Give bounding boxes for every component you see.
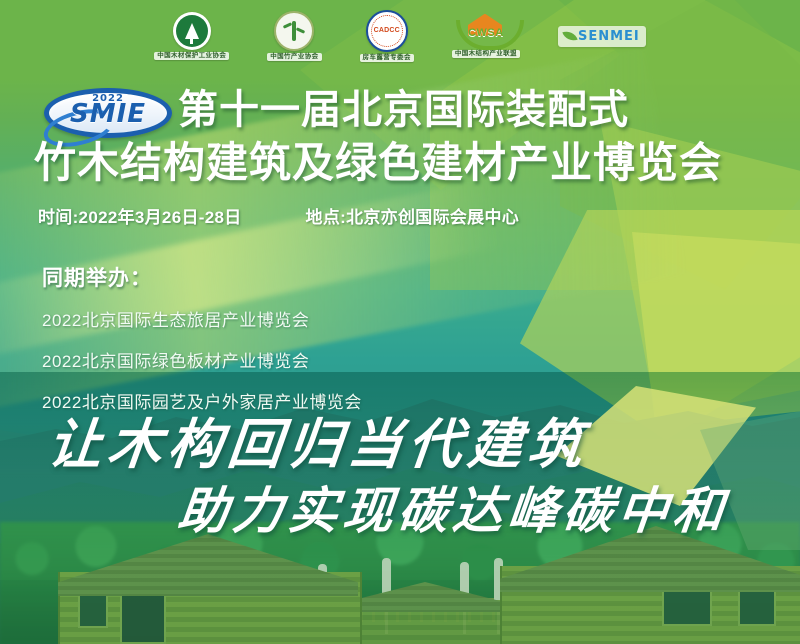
title-line-2: 竹木结构建筑及绿色建材产业博览会 — [34, 142, 722, 184]
logo-cwsa-wood-structure-alliance[interactable]: CWSA 中国木结构产业联盟 — [452, 8, 520, 64]
senmei-leaf-icon: SENMEI — [558, 26, 646, 47]
logo-mark-text: CWSA — [462, 27, 510, 39]
slogan-line-2: 助力实现碳达峰碳中和 — [175, 486, 730, 536]
concurrent-event-item: 2022北京国际园艺及户外家居产业博览会 — [42, 388, 362, 413]
concurrent-event-item: 2022北京国际绿色板材产业博览会 — [42, 347, 362, 372]
logo-caption: 中国木结构产业联盟 — [452, 50, 520, 59]
logo-caption: 中国木材保护工业协会 — [154, 52, 229, 61]
event-venue: 地点:北京亦创国际会展中心 — [306, 203, 520, 228]
logo-bamboo-industry-association[interactable]: 中国竹产业协会 — [267, 8, 321, 64]
logo-caption: 房车露营专委会 — [360, 54, 414, 63]
logo-senmei[interactable]: SENMEI — [558, 8, 646, 64]
smie-wordmark: SMIE — [44, 101, 172, 127]
logo-mark-text: SENMEI — [578, 29, 640, 44]
logo-name: 中国竹产业协会 — [270, 53, 318, 60]
event-date: 时间:2022年3月26日-28日 — [38, 203, 242, 228]
logo-cadcc-rv-camping-committee[interactable]: CADCC 房车露营专委会 — [360, 8, 414, 64]
forest-tree-circle-icon — [173, 12, 211, 50]
smie-brand-logo[interactable]: 2022 SMIE — [44, 88, 172, 138]
logo-wood-protection-association[interactable]: 中国木材保护工业协会 — [154, 8, 229, 64]
logo-name: 房车露营专委会 — [363, 54, 411, 61]
exhibition-poster: 中国木材保护工业协会 中国竹产业协会 CADCC 房车露营专委会 — [0, 0, 800, 644]
event-meta: 时间:2022年3月26日-28日 地点:北京亦创国际会展中心 — [38, 203, 519, 228]
concurrent-heading: 同期举办： — [42, 262, 362, 292]
bamboo-circle-icon — [274, 11, 314, 51]
logo-name: 中国木材保护工业协会 — [157, 52, 226, 59]
cabin-window — [78, 592, 108, 628]
concurrent-event-item: 2022北京国际生态旅居产业博览会 — [42, 306, 362, 331]
logo-name: 中国木结构产业联盟 — [455, 50, 517, 57]
slogan-line-1: 让木构回归当代建筑 — [45, 418, 591, 472]
logo-caption: 中国竹产业协会 — [267, 53, 321, 62]
cabin-roof — [58, 534, 358, 596]
wooden-cabin-left — [58, 534, 358, 644]
concurrent-events-section: 同期举办： 2022北京国际生态旅居产业博览会 2022北京国际绿色板材产业博览… — [42, 262, 362, 429]
title-line-1: 第十一届北京国际装配式 — [178, 90, 629, 130]
cwsa-house-icon: CWSA — [456, 14, 516, 48]
cadcc-circle-icon: CADCC — [366, 10, 408, 52]
association-logo-strip: 中国木材保护工业协会 中国竹产业协会 CADCC 房车露营专委会 — [0, 6, 800, 66]
